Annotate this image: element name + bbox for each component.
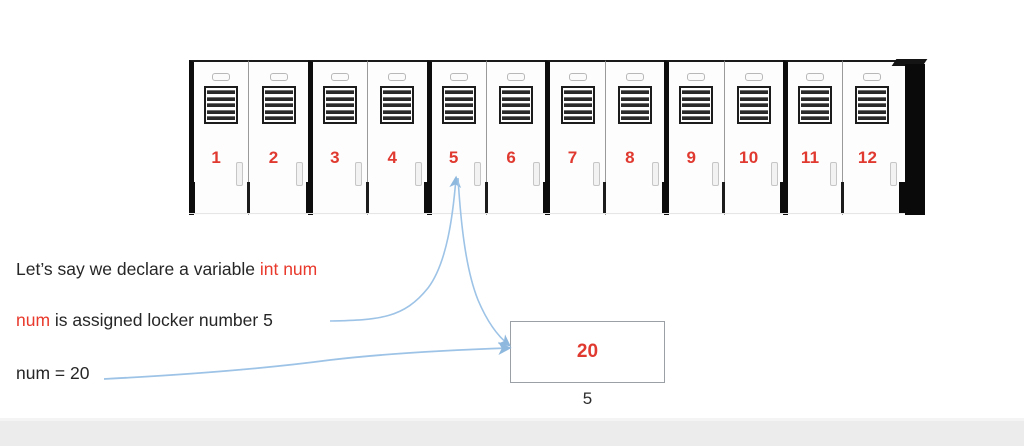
card-slot-icon <box>507 73 525 81</box>
locker-bank-side-panel <box>905 64 925 215</box>
card-slot-icon <box>331 73 349 81</box>
floor-bar <box>780 182 786 213</box>
card-slot-icon <box>270 73 288 81</box>
vent-grille-icon <box>798 86 832 124</box>
memory-cell-value: 20 <box>511 322 664 382</box>
narrative-line-3: num = 20 <box>16 363 89 384</box>
card-slot-icon <box>388 73 406 81</box>
card-slot-icon <box>212 73 230 81</box>
card-slot-icon <box>687 73 705 81</box>
narrative-line-2-suffix: is assigned locker number 5 <box>50 310 273 330</box>
slide-canvas: 1 2 3 4 <box>0 0 1024 446</box>
video-bottom-band <box>0 418 1024 446</box>
vent-grille-icon <box>855 86 889 124</box>
floor-bar <box>247 182 250 213</box>
floor-bar <box>306 182 312 213</box>
narrative-line-2: num is assigned locker number 5 <box>16 310 273 331</box>
vent-grille-icon <box>737 86 771 124</box>
floor-bar <box>543 182 549 213</box>
card-slot-icon <box>626 73 644 81</box>
floor-bar <box>485 182 488 213</box>
floor-bar <box>662 182 668 213</box>
vent-grille-icon <box>618 86 652 124</box>
floor-line <box>189 213 925 214</box>
locker-floor-bars <box>189 182 925 215</box>
card-slot-icon <box>569 73 587 81</box>
card-slot-icon <box>450 73 468 81</box>
connector-value-to-box <box>104 348 509 379</box>
vent-grille-icon <box>442 86 476 124</box>
floor-bar <box>603 182 606 213</box>
card-slot-icon <box>745 73 763 81</box>
vent-grille-icon <box>323 86 357 124</box>
card-slot-icon <box>806 73 824 81</box>
narrative-line-1-highlight: int num <box>260 259 317 279</box>
narrative-line-1: Let’s say we declare a variable int num <box>16 259 317 280</box>
card-slot-icon <box>863 73 881 81</box>
floor-bar <box>189 182 195 213</box>
floor-bar <box>722 182 725 213</box>
floor-bar <box>366 182 369 213</box>
video-bottom-band-highlight <box>0 418 1024 421</box>
memory-cell-box: 20 <box>510 321 665 383</box>
vent-grille-icon <box>499 86 533 124</box>
memory-cell-address-label: 5 <box>510 389 665 409</box>
vent-grille-icon <box>380 86 414 124</box>
vent-grille-icon <box>679 86 713 124</box>
narrative-line-1-prefix: Let’s say we declare a variable <box>16 259 260 279</box>
floor-bar <box>424 182 430 213</box>
vent-grille-icon <box>204 86 238 124</box>
narrative-line-2-highlight: num <box>16 310 50 330</box>
vent-grille-icon <box>561 86 595 124</box>
floor-bar <box>841 182 844 213</box>
vent-grille-icon <box>262 86 296 124</box>
